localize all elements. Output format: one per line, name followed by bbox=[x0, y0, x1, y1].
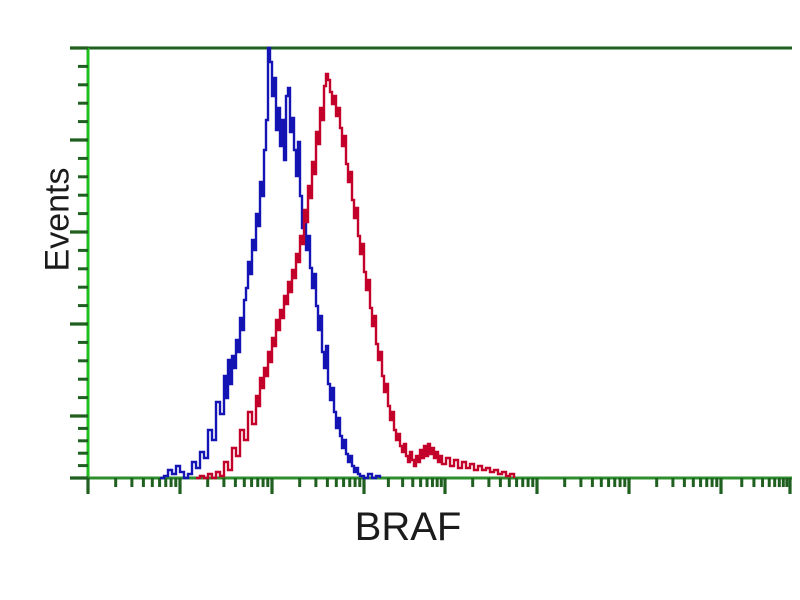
plot-background bbox=[88, 48, 790, 478]
flow-cytometry-figure: Events BRAF bbox=[0, 0, 800, 600]
y-axis-label: Events bbox=[39, 140, 78, 300]
x-axis-ticks bbox=[88, 478, 790, 494]
x-axis-label: BRAF bbox=[278, 505, 538, 550]
